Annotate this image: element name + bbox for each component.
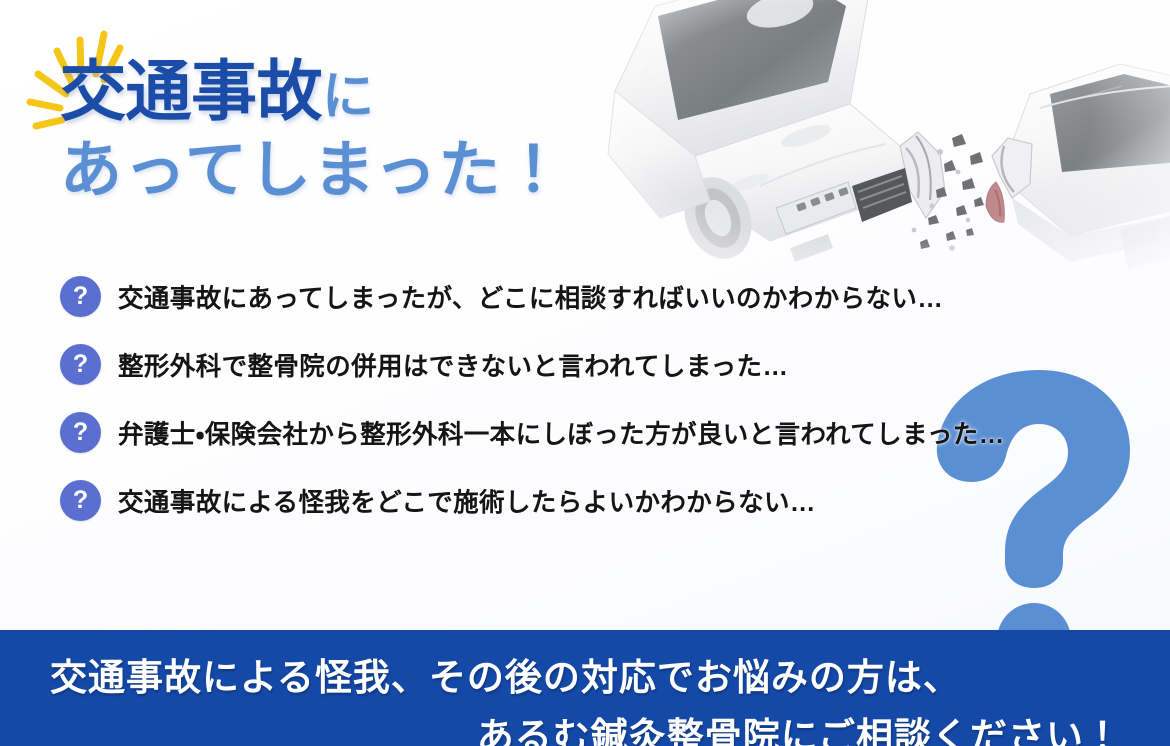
cta-banner: 交通事故による怪我、その後の対応でお悩みの方は、 あるむ鍼灸整骨院にご相談くださ… [0,630,1170,746]
list-item: ? 弁護士・保険会社から整形外科一本にしぼった方が良いと言われてしまった… [60,398,1150,466]
headline-particle: に [322,68,374,126]
headline-line-2: あってしまった！ [60,139,566,202]
list-item: ? 交通事故にあってしまったが、どこに相談すればいいのかわからない… [60,262,1150,330]
headline-emphasis: 交通事故 [60,54,322,128]
cta-banner-line-1: 交通事故による怪我、その後の対応でお悩みの方は、 [36,647,1134,701]
page-title: 交通事故に あってしまった！ [60,58,566,203]
list-item-label: 整形外科で整骨院の併用はできないと言われてしまった… [118,346,788,383]
cta-banner-line-2: あるむ鍼灸整骨院にご相談ください！ [36,706,1134,746]
list-item: ? 交通事故による怪我をどこで施術したらよいかわからない… [60,466,1150,534]
question-mark-icon: ? [60,480,101,521]
headline-line-1: 交通事故に [60,58,566,125]
svg-text:?: ? [73,282,88,310]
svg-text:?: ? [73,350,88,378]
problem-list: ? 交通事故にあってしまったが、どこに相談すればいいのかわからない… ? 整形外… [60,262,1150,534]
list-item-label: 交通事故にあってしまったが、どこに相談すればいいのかわからない… [118,278,943,315]
question-mark-icon: ? [60,344,101,385]
question-mark-icon: ? [60,412,101,453]
question-mark-icon: ? [60,276,101,317]
list-item-label: 交通事故による怪我をどこで施術したらよいかわからない… [118,482,816,519]
car-collision-photo [600,0,1170,286]
list-item-label: 弁護士・保険会社から整形外科一本にしぼった方が良いと言われてしまった… [118,414,1005,451]
list-item: ? 整形外科で整骨院の併用はできないと言われてしまった… [60,330,1150,398]
svg-text:?: ? [73,486,88,514]
hero-banner: 交通事故に あってしまった！ ? 交通事故にあってしまったが、どこに相談すればい… [0,0,1170,746]
svg-text:?: ? [73,418,88,446]
